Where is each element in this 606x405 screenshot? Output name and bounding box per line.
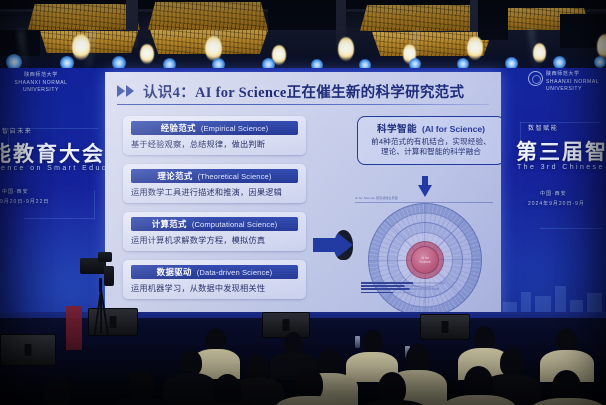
ai-panel-title-zh: 科学智能 xyxy=(377,121,417,135)
down-arrow-icon xyxy=(418,176,432,198)
projected-slide: 认识4：AI for Science正在催生新的科学研究范式 经验范式 (Emp… xyxy=(105,72,501,325)
audience-head xyxy=(128,370,154,401)
paradigm-header: 数据驱动 (Data-driven Science) xyxy=(131,265,298,279)
paradigm-description: 运用数学工具进行描述和推演，因果逻辑 xyxy=(123,183,306,203)
audience-head xyxy=(246,354,268,381)
diagram-hub-label: AI for Science xyxy=(419,256,430,264)
right-banner-tagline: 数智赋能 xyxy=(528,123,558,132)
water-bottle xyxy=(355,336,360,348)
university-logo-right: 陕西师范大学 SHAANXI NORMAL UNIVERSITY xyxy=(546,71,606,94)
audience-head xyxy=(214,374,241,405)
stage-backdrop-screen: 陕西师范大学 SHAANXI NORMAL UNIVERSITY 智启未来 能教… xyxy=(0,68,606,320)
stage-light xyxy=(140,44,154,64)
slide-title: 认识4：AI for Science正在催生新的科学研究范式 xyxy=(143,81,464,102)
stage-light xyxy=(338,37,354,61)
paradigm-name-zh: 理论范式 xyxy=(158,170,193,182)
floor-monitor xyxy=(262,312,310,338)
stage-ceiling xyxy=(0,0,606,72)
paradigm-header: 计算范式 (Computational Science) xyxy=(131,217,298,231)
stage-light xyxy=(72,34,90,60)
ai-panel-description: 前4种范式的有机结合，实现经验、 理论、计算和智能的科学融合 xyxy=(364,137,498,158)
paradigm-name-zh: 经验范式 xyxy=(161,122,196,134)
paradigm-description: 运用计算机求解数学方程，模拟仿真 xyxy=(123,231,306,251)
paradigm-name-en: (Data-driven Science) xyxy=(197,268,273,277)
blue-stage-light xyxy=(594,56,606,68)
slide-title-row: 认识4：AI for Science正在催生新的科学研究范式 xyxy=(117,80,489,102)
left-banner-tagline: 智启未来 xyxy=(2,126,32,135)
diagram-caption-top: AI for Science 研究领域全景图 xyxy=(355,196,398,200)
audience-head xyxy=(44,376,71,405)
university-seal-icon xyxy=(528,71,543,86)
conference-hall-photo: 陕西师范大学 SHAANXI NORMAL UNIVERSITY 智启未来 能教… xyxy=(0,0,606,405)
diagram-legend xyxy=(361,282,447,295)
right-arrow-icon xyxy=(313,230,353,260)
paradigm-name-en: (Theoretical Science) xyxy=(198,172,272,181)
left-banner-location: 中国·西安 xyxy=(2,188,29,195)
paradigm-description: 运用机器学习，从数据中发现相关性 xyxy=(123,279,306,299)
paradigm-name-en: (Computational Science) xyxy=(192,220,277,229)
floor-monitor xyxy=(0,334,56,366)
right-banner-location: 中国·西安 xyxy=(540,190,567,197)
right-banner-date: 2024年9月20日-9月 xyxy=(528,200,585,207)
left-banner-date: 9月20日-9月22日 xyxy=(0,198,49,205)
radial-sunburst-diagram: AI for Science xyxy=(369,204,481,316)
paradigm-description: 基于经验观察，总结规律，做出判断 xyxy=(123,135,306,155)
ai-panel-header: 科学智能 (AI for Science) xyxy=(364,121,498,135)
double-chevron-right-icon xyxy=(117,85,134,97)
ai-panel-title-en: (AI for Science) xyxy=(422,124,485,134)
floor-monitor xyxy=(420,314,470,340)
audience-shoulders xyxy=(530,398,606,405)
audience-head xyxy=(406,344,430,373)
audience-head xyxy=(500,348,524,377)
stage-light xyxy=(467,36,483,60)
paradigm-header: 理论范式 (Theoretical Science) xyxy=(131,169,298,183)
right-banner-subtitle: The 3rd Chinese Conference o xyxy=(517,164,606,171)
university-logo-left: 陕西师范大学 SHAANXI NORMAL UNIVERSITY xyxy=(2,72,80,95)
left-banner-title: 能教育大会 xyxy=(0,138,105,168)
right-banner-title: 第三届智能教 xyxy=(516,136,606,166)
audience-head xyxy=(318,348,341,376)
paradigm-name-zh: 数据驱动 xyxy=(157,266,192,278)
stage-light xyxy=(533,43,546,63)
paradigm-card-data-driven: 数据驱动 (Data-driven Science) 运用机器学习，从数据中发现… xyxy=(123,260,306,299)
paradigm-card-computational: 计算范式 (Computational Science) 运用计算机求解数学方程… xyxy=(123,212,306,251)
title-divider xyxy=(117,104,489,105)
paradigm-name-en: (Empirical Science) xyxy=(201,124,268,133)
paradigm-name-zh: 计算范式 xyxy=(152,218,187,230)
paradigm-card-empirical: 经验范式 (Empirical Science) 基于经验观察，总结规律，做出判… xyxy=(123,116,306,155)
ai-for-science-panel: 科学智能 (AI for Science) 前4种范式的有机结合，实现经验、 理… xyxy=(357,116,501,165)
red-floor-banner xyxy=(66,306,82,350)
paradigm-card-theoretical: 理论范式 (Theoretical Science) 运用数学工具进行描述和推演… xyxy=(123,164,306,203)
audience-shoulders xyxy=(163,373,217,405)
paradigm-header: 经验范式 (Empirical Science) xyxy=(131,121,298,135)
audience-area xyxy=(0,318,606,405)
